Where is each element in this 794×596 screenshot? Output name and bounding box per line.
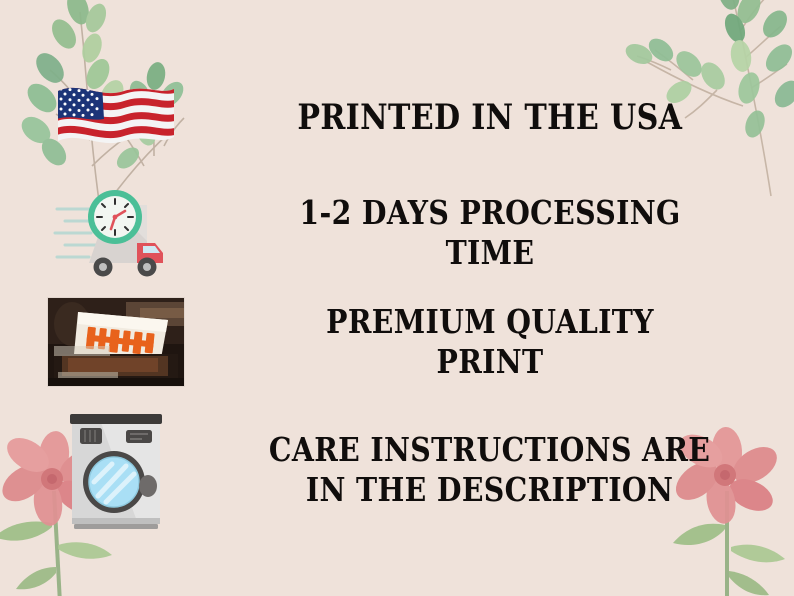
feature-text-cell: 1-2 DAYS PROCESSING TIME: [232, 193, 794, 274]
feature-label-premium-quality: PREMIUM QUALITY PRINT: [268, 302, 712, 383]
infographic-canvas: PRINTED IN THE USA: [0, 0, 794, 596]
feature-label-printed-in-usa: PRINTED IN THE USA: [297, 97, 682, 140]
feature-icon-cell: [0, 181, 232, 285]
feature-icon-cell: [0, 79, 232, 157]
fast-delivery-truck-clock-icon: [51, 181, 181, 285]
feature-icon-cell: [0, 404, 232, 536]
feature-row-printed-in-usa: PRINTED IN THE USA: [0, 78, 794, 158]
feature-row-processing-time: 1-2 DAYS PROCESSING TIME: [0, 190, 794, 276]
feature-text-cell: PREMIUM QUALITY PRINT: [232, 302, 794, 383]
washing-machine-icon: [60, 404, 172, 536]
feature-text-cell: CARE INSTRUCTIONS ARE IN THE DESCRIPTION: [232, 430, 794, 511]
feature-text-cell: PRINTED IN THE USA: [232, 97, 794, 140]
feature-row-premium-quality: PREMIUM QUALITY PRINT: [0, 296, 794, 388]
us-flag-icon: [54, 79, 178, 157]
feature-row-care-instructions: CARE INSTRUCTIONS ARE IN THE DESCRIPTION: [0, 400, 794, 540]
feature-label-processing-time: 1-2 DAYS PROCESSING TIME: [268, 193, 712, 274]
screen-printing-photo: [48, 298, 184, 386]
feature-icon-cell: [0, 298, 232, 386]
feature-label-care-instructions: CARE INSTRUCTIONS ARE IN THE DESCRIPTION: [269, 430, 710, 511]
